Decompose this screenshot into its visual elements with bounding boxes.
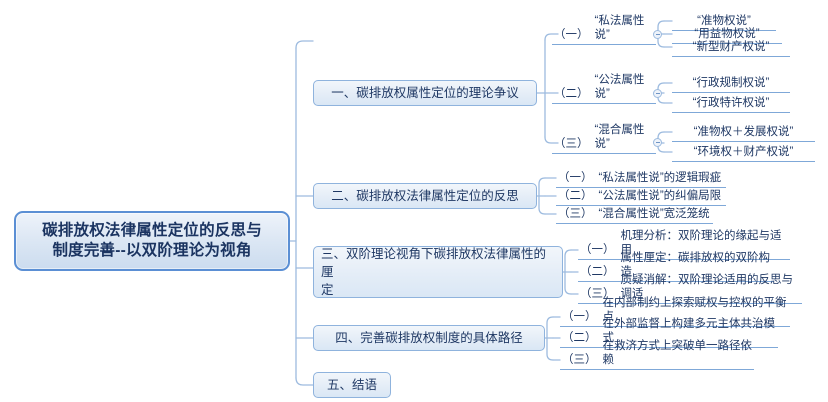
subnode-4-3[interactable]: （三） 在救济方式上突破单一路径依赖 bbox=[560, 349, 754, 370]
branch-node-3-label: 三、双阶理论视角下碳排放权法律属性的厘 定 bbox=[321, 245, 555, 299]
subnode-1-3[interactable]: （三） “混合属性说” bbox=[552, 131, 656, 154]
subnode-1-3-label: “混合属性说” bbox=[595, 123, 655, 152]
leaf-1-2-2-label: “行政特许权说” bbox=[693, 96, 770, 111]
subnode-3-1-index: （一） bbox=[580, 243, 615, 258]
subnode-3-2-index: （二） bbox=[580, 265, 615, 280]
branch-node-4[interactable]: 四、完善碳排放权制度的具体路径 bbox=[313, 325, 545, 351]
subnode-4-2-index: （二） bbox=[562, 331, 597, 346]
leaf-1-1-3[interactable]: “新型财产权说” bbox=[672, 35, 790, 57]
leaf-1-2-2[interactable]: “行政特许权说” bbox=[672, 91, 790, 113]
branch-node-3[interactable]: 三、双阶理论视角下碳排放权法律属性的厘 定 bbox=[313, 246, 563, 298]
subnode-2-3-index: （三） bbox=[558, 207, 593, 222]
subnode-4-3-label: 在救济方式上突破单一路径依赖 bbox=[603, 339, 753, 368]
subnode-1-1[interactable]: （一） “私法属性说” bbox=[552, 22, 656, 45]
collapse-toggle-icon-1-1[interactable] bbox=[653, 30, 662, 39]
branch-node-5[interactable]: 五、结语 bbox=[313, 372, 391, 398]
branch-node-1-label: 一、碳排放权属性定位的理论争议 bbox=[331, 85, 519, 101]
leaf-1-3-2-label: “环境权＋财产权说” bbox=[694, 145, 794, 160]
subnode-1-1-index: （一） bbox=[554, 28, 589, 43]
subnode-1-2[interactable]: （二） “公法属性说” bbox=[552, 81, 656, 104]
subnode-1-1-label: “私法属性说” bbox=[595, 14, 655, 43]
leaf-1-3-2[interactable]: “环境权＋财产权说” bbox=[672, 140, 815, 162]
branch-node-1[interactable]: 一、碳排放权属性定位的理论争议 bbox=[313, 80, 537, 106]
subnode-4-1-index: （一） bbox=[562, 310, 597, 325]
branch-node-5-label: 五、结语 bbox=[327, 377, 377, 393]
root-node[interactable]: 碳排放权法律属性定位的反思与 制度完善--以双阶理论为视角 bbox=[14, 211, 290, 271]
subnode-1-2-index: （二） bbox=[554, 87, 589, 102]
leaf-1-3-1[interactable]: “准物权＋发展权说” bbox=[672, 120, 815, 142]
branch-node-2-label: 二、碳排放权法律属性定位的反思 bbox=[331, 188, 519, 204]
collapse-toggle-icon-1-3[interactable] bbox=[653, 138, 662, 147]
root-node-label: 碳排放权法律属性定位的反思与 制度完善--以双阶理论为视角 bbox=[42, 221, 262, 261]
subnode-1-3-index: （三） bbox=[554, 137, 589, 152]
collapse-toggle-icon-1-2[interactable] bbox=[653, 89, 662, 98]
subnode-2-3[interactable]: （三） “混合属性说”宽泛笼统 bbox=[556, 202, 713, 224]
subnode-2-3-label: “混合属性说”宽泛笼统 bbox=[599, 207, 710, 222]
leaf-1-2-1-label: “行政规制权说” bbox=[693, 76, 770, 91]
subnode-1-2-label: “公法属性说” bbox=[595, 73, 655, 102]
branch-node-2[interactable]: 二、碳排放权法律属性定位的反思 bbox=[313, 183, 537, 209]
subnode-4-3-index: （三） bbox=[562, 353, 597, 368]
leaf-1-3-1-label: “准物权＋发展权说” bbox=[694, 125, 794, 140]
mindmap-canvas: 碳排放权法律属性定位的反思与 制度完善--以双阶理论为视角 一、碳排放权属性定位… bbox=[0, 0, 828, 402]
leaf-1-2-1[interactable]: “行政规制权说” bbox=[672, 71, 790, 93]
leaf-1-1-3-label: “新型财产权说” bbox=[693, 40, 770, 55]
branch-node-4-label: 四、完善碳排放权制度的具体路径 bbox=[335, 330, 523, 346]
